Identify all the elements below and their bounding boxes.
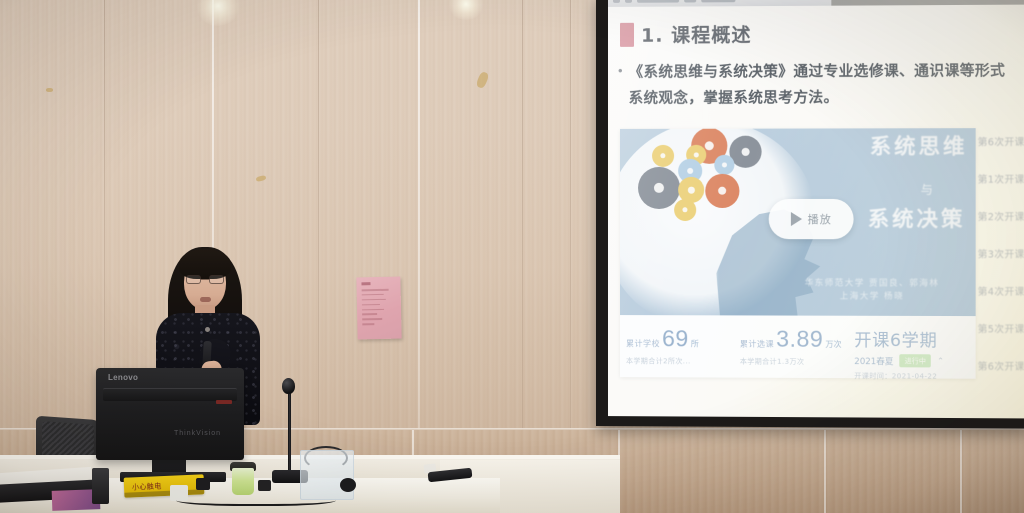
status-badge: 进行中 [900,354,932,367]
gear-icon [654,147,672,165]
gear-icon [642,171,676,205]
browser-refresh-icon[interactable] [684,0,696,2]
stat-enrollments-sub: 本学期合计1.3万次 [740,357,854,368]
gear-icon [732,139,758,165]
course-card[interactable]: 系统思维 与 系统决策 播放 华东师范大学 贾国良、郭海林 上海大学 杨晓 [620,128,976,379]
chevron-updown-icon[interactable]: ⌃ [937,357,944,365]
notice-header-mark [361,282,370,285]
necklace-pendant [205,327,210,332]
stat-enrollments-unit: 万次 [825,339,841,350]
term-heading: 开课6学期 [854,326,969,352]
bullet-marker: • [618,60,623,112]
desk-cable [176,492,336,506]
lecture-hall-screenshot: 1. 课程概述 • 《系统思维与系统决策》通过专业选修课、通识课等形式 系统观念… [0,0,1024,513]
monitor-accent-stripe [216,400,232,404]
stat-enrollments-caption: 累计选课 [740,339,774,350]
desk-small-device [258,480,271,491]
gear-icon [676,201,694,219]
desk-monitor: Lenovo ThinkVision [96,368,244,460]
course-card-hero[interactable]: 系统思维 与 系统决策 播放 华东师范大学 贾国良、郭海林 上海大学 杨晓 [620,128,976,316]
title-accent-swatch [620,22,634,46]
slide-title-text: 1. 课程概述 [641,20,752,48]
session-item[interactable]: 第4次开课 [978,284,1024,298]
desk-small-device [196,478,210,490]
browser-menu-icon[interactable] [701,0,735,2]
lower-wall-seam [960,430,962,513]
session-item[interactable]: 第6次开课 [978,359,1024,373]
course-credits: 华东师范大学 贾国良、郭海林 上海大学 杨晓 [781,277,964,304]
session-item[interactable]: 第2次开课 [978,209,1024,223]
course-hero-title-line1: 系统思维 [870,132,968,160]
desk-remote-upright [92,468,109,504]
projection-screen-frame: 1. 课程概述 • 《系统思维与系统决策》通过专业选修课、通识课等形式 系统观念… [596,0,1024,429]
slide-bullet-block: • 《系统思维与系统决策》通过专业选修课、通识课等形式 系统观念，掌握系统思考方… [618,58,1024,112]
wall-seam [522,0,523,460]
gear-icon [708,177,736,205]
desk-small-device [340,478,356,492]
bullet-line-2: 系统观念，掌握系统思考方法。 [629,85,1006,112]
gear-icon [680,179,702,201]
presenter-mouth [200,297,211,302]
browser-address-bar[interactable] [637,0,679,3]
glasses-icon [186,275,224,284]
session-item[interactable]: 第5次开课 [978,321,1024,335]
lower-wall-seam [824,430,826,513]
gear-icon [716,157,732,173]
play-button-label: 播放 [808,211,832,227]
drink-cup [232,468,254,495]
bullet-line-1: 《系统思维与系统决策》通过专业选修课、通识课等形式 [629,58,1006,86]
stat-schools-caption: 累计学校 [626,338,660,349]
session-item[interactable]: 第6次开课 [978,134,1024,148]
slide-title: 1. 课程概述 [608,15,1024,48]
term-name: 2021春夏 [854,355,893,367]
projection-screen: 1. 课程概述 • 《系统思维与系统决策》通过专业选修课、通识课等形式 系统观念… [608,0,1024,418]
browser-forward-icon[interactable] [625,0,632,3]
course-card-stats: 累计学校 69 所 本学期合计2所次... 累计选课 3.89 万次 [620,315,976,379]
wall-speck [46,88,53,92]
stat-schools-unit: 所 [691,338,699,349]
play-icon [790,212,801,226]
monitor-model-label: ThinkVision [174,430,221,437]
term-sub: 开课时间：2021-04-22 [854,371,969,382]
wall-seam [318,0,319,460]
stat-enrollments: 累计选课 3.89 万次 本学期合计1.3万次 [740,325,854,367]
play-button[interactable]: 播放 [769,199,854,239]
slide-content: 1. 课程概述 • 《系统思维与系统决策》通过专业选修课、通识课等形式 系统观念… [608,5,1024,419]
monitor-brand-label: Lenovo [108,373,138,382]
gooseneck-mic-stem [288,388,291,472]
session-item[interactable]: 第1次开课 [978,172,1024,186]
stat-enrollments-value: 3.89 [776,326,823,353]
course-hero-title-line2: 系统决策 [868,203,966,233]
wall-seam [570,0,571,460]
stat-schools-value: 69 [662,325,689,352]
stat-schools-sub: 本学期合计2所次... [626,356,740,366]
wall-seam [418,0,420,460]
course-hero-conjunction: 与 [921,181,933,198]
credit-line-2: 上海大学 杨晓 [781,290,964,304]
stat-schools: 累计学校 69 所 本学期合计2所次... [626,325,740,367]
stat-term[interactable]: 开课6学期 2021春夏 进行中 ⌃ 开课时间：2021-04-22 [854,326,969,382]
wall-notice-paper [356,277,401,340]
credit-line-1: 华东师范大学 贾国良、郭海林 [781,277,964,290]
session-list: 第6次开课 第1次开课 第2次开课 第3次开课 第4次开课 第5次开课 第6次开… [961,134,1024,373]
browser-back-icon[interactable] [613,0,620,3]
gooseneck-mic-head [282,378,295,394]
session-item[interactable]: 第3次开课 [978,246,1024,260]
